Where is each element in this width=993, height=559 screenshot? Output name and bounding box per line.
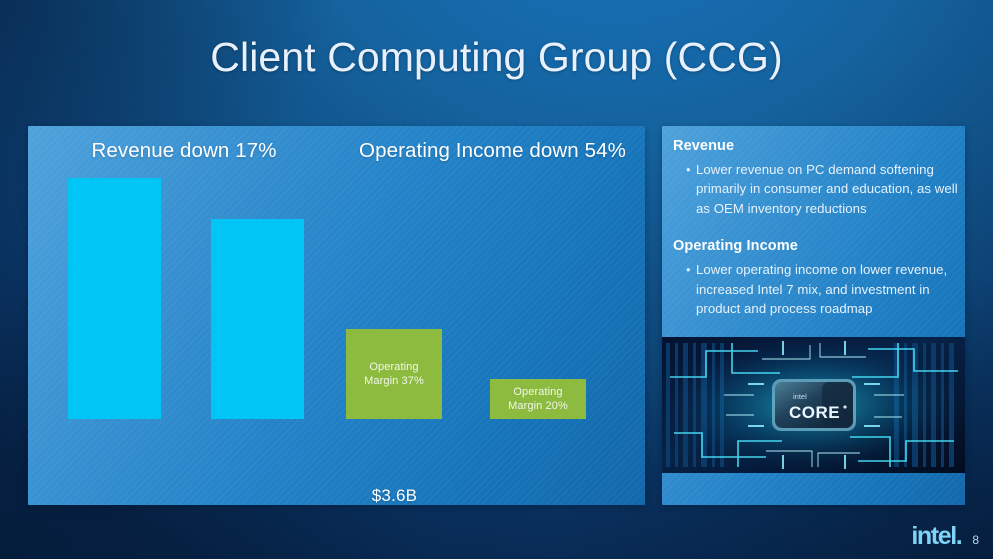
section-spacer: [673, 220, 958, 238]
info-bullet-text: Lower revenue on PC demand softening pri…: [696, 160, 958, 218]
slide-footer: intel. 8: [911, 524, 979, 549]
chart-revenue-plot: $9.8B $8.1B Q3'21 Q3'22: [28, 126, 340, 505]
intel-logo-dot: .: [956, 522, 962, 550]
bar-annotation-line-1: Operating: [346, 360, 442, 374]
bar-revenue-q321[interactable]: [68, 178, 161, 419]
slide-canvas: Client Computing Group (CCG) Revenue dow…: [0, 0, 993, 559]
chart-operating-income-plot: $3.6B Operating Margin 37% $1.7B Operati…: [340, 126, 645, 505]
page-title: Client Computing Group (CCG): [0, 34, 993, 81]
charts-panel: Revenue down 17% $9.8B $8.1B Q3'21 Q3'22…: [28, 126, 645, 505]
intel-logo-text: intel: [911, 522, 955, 550]
chip-brand-text: intel: [793, 392, 807, 401]
bar-annotation-line-2: Margin 20%: [490, 399, 586, 413]
bar-annotation-line-2: Margin 37%: [346, 374, 442, 388]
bar-operating-income-q322[interactable]: Operating Margin 20%: [490, 379, 586, 419]
info-heading-revenue: Revenue: [673, 138, 958, 154]
commentary-body: Revenue • Lower revenue on PC demand sof…: [673, 138, 958, 320]
bar-revenue-q322[interactable]: [211, 219, 304, 419]
processor-photo-graphic: intel CORE: [662, 337, 965, 473]
bar-value-opinc-q321: $3.6B: [347, 486, 442, 505]
bullet-dot-icon: •: [686, 160, 696, 179]
bar-annotation-opinc-q322: Operating Margin 20%: [490, 385, 586, 413]
bullet-dot-icon: •: [686, 260, 696, 279]
info-bullet-operating-income-1: • Lower operating income on lower revenu…: [673, 260, 958, 318]
bar-annotation-opinc-q321: Operating Margin 37%: [346, 360, 442, 388]
chart-revenue: Revenue down 17% $9.8B $8.1B Q3'21 Q3'22: [28, 126, 340, 505]
intel-logo: intel.: [911, 524, 961, 549]
chip-core-text: CORE: [789, 403, 840, 422]
page-number: 8: [972, 534, 979, 549]
bar-annotation-line-1: Operating: [490, 385, 586, 399]
processor-photo: intel CORE: [662, 337, 965, 473]
bar-operating-income-q321[interactable]: Operating Margin 37%: [346, 329, 442, 419]
chart-operating-income: Operating Income down 54% $3.6B Operatin…: [340, 126, 645, 505]
info-heading-operating-income: Operating Income: [673, 238, 958, 254]
info-bullet-text: Lower operating income on lower revenue,…: [696, 260, 958, 318]
info-bullet-revenue-1: • Lower revenue on PC demand softening p…: [673, 160, 958, 218]
